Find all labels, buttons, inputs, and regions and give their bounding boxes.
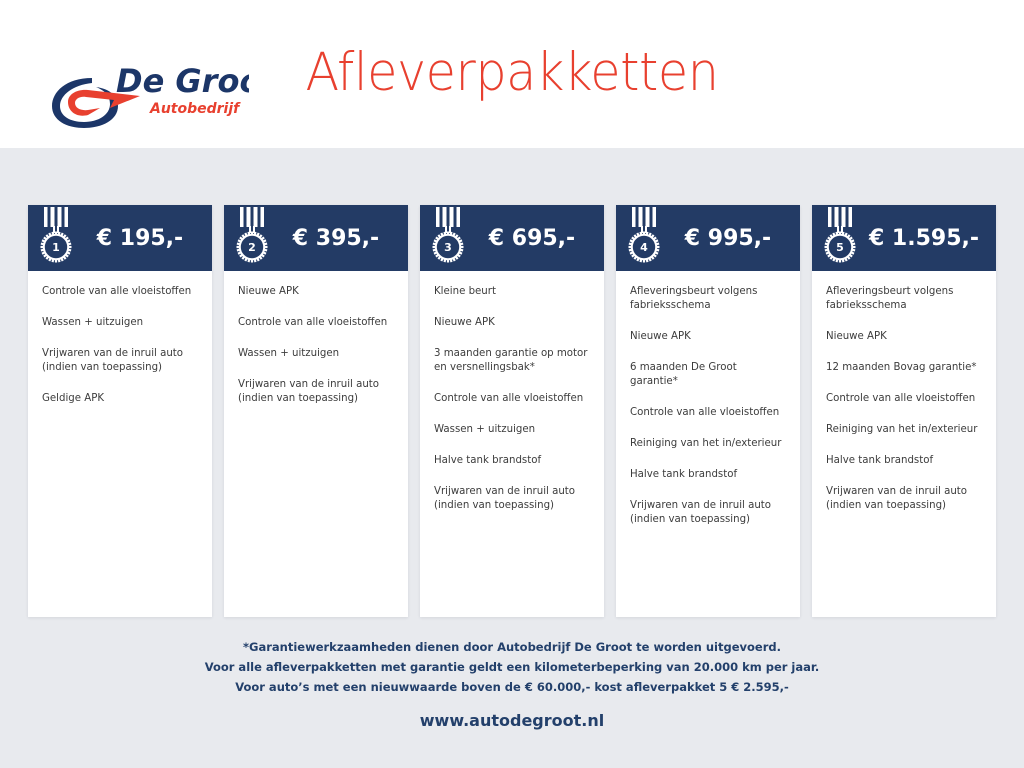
package-price: € 395,-: [272, 226, 404, 251]
package-feature: Vrijwaren van de inruil auto (indien van…: [238, 378, 394, 406]
website-url[interactable]: www.autodegroot.nl: [0, 711, 1024, 730]
package-feature: Halve tank brandstof: [630, 468, 786, 482]
package-price: € 1.595,-: [860, 226, 992, 251]
package-feature: Reiniging van het in/exterieur: [630, 437, 786, 451]
package-feature: Halve tank brandstof: [434, 454, 590, 468]
footer-note-line: Voor alle afleverpakketten met garantie …: [0, 657, 1024, 677]
package-header-1: 1€ 195,-: [28, 205, 212, 271]
package-feature: Afleveringsbeurt volgens fabrieksschema: [826, 285, 982, 313]
medal-icon: 4: [624, 205, 664, 267]
package-card-4[interactable]: 4€ 995,-Afleveringsbeurt volgens fabriek…: [616, 205, 800, 617]
medal-icon: 2: [232, 205, 272, 267]
package-feature: Geldige APK: [42, 392, 198, 406]
footer-note-line: *Garantiewerkzaamheden dienen door Autob…: [0, 637, 1024, 657]
package-feature: Vrijwaren van de inruil auto (indien van…: [630, 499, 786, 527]
package-header-3: 3€ 695,-: [420, 205, 604, 271]
package-feature-list: Afleveringsbeurt volgens fabrieksschemaN…: [812, 271, 996, 617]
medal-icon: 3: [428, 205, 468, 267]
package-feature-list: Kleine beurtNieuwe APK3 maanden garantie…: [420, 271, 604, 617]
package-feature: Vrijwaren van de inruil auto (indien van…: [42, 347, 198, 375]
package-header-4: 4€ 995,-: [616, 205, 800, 271]
package-feature: Wassen + uitzuigen: [238, 347, 394, 361]
package-feature: Controle van alle vloeistoffen: [826, 392, 982, 406]
package-header-5: 5€ 1.595,-: [812, 205, 996, 271]
package-card-2[interactable]: 2€ 395,-Nieuwe APKControle van alle vloe…: [224, 205, 408, 617]
package-feature-list: Afleveringsbeurt volgens fabrieksschemaN…: [616, 271, 800, 617]
package-feature: Controle van alle vloeistoffen: [434, 392, 590, 406]
medal-icon: 1: [36, 205, 76, 267]
package-cards: 1€ 195,-Controle van alle vloeistoffenWa…: [28, 205, 996, 617]
package-feature: 3 maanden garantie op motor en versnelli…: [434, 347, 590, 375]
package-feature: Wassen + uitzuigen: [42, 316, 198, 330]
package-feature: 12 maanden Bovag garantie*: [826, 361, 982, 375]
package-feature: Controle van alle vloeistoffen: [630, 406, 786, 420]
svg-text:3: 3: [444, 241, 452, 254]
svg-text:2: 2: [248, 241, 256, 254]
svg-text:4: 4: [640, 241, 648, 254]
afleverpakketten-page: De Groot Autobedrijf Afleverpakketten 1€…: [0, 0, 1024, 768]
medal-icon: 5: [820, 205, 860, 267]
package-feature: Reiniging van het in/exterieur: [826, 423, 982, 437]
package-feature: Nieuwe APK: [434, 316, 590, 330]
package-card-1[interactable]: 1€ 195,-Controle van alle vloeistoffenWa…: [28, 205, 212, 617]
footer-notes: *Garantiewerkzaamheden dienen door Autob…: [0, 637, 1024, 697]
svg-text:5: 5: [836, 241, 844, 254]
page-footer: *Garantiewerkzaamheden dienen door Autob…: [0, 637, 1024, 730]
package-feature: Nieuwe APK: [238, 285, 394, 299]
package-feature: Halve tank brandstof: [826, 454, 982, 468]
package-feature: Controle van alle vloeistoffen: [42, 285, 198, 299]
package-feature: Kleine beurt: [434, 285, 590, 299]
package-feature: Nieuwe APK: [630, 330, 786, 344]
package-feature-list: Nieuwe APKControle van alle vloeistoffen…: [224, 271, 408, 617]
package-feature: Controle van alle vloeistoffen: [238, 316, 394, 330]
package-feature: Wassen + uitzuigen: [434, 423, 590, 437]
footer-note-line: Voor auto’s met een nieuwwaarde boven de…: [0, 677, 1024, 697]
package-feature: Vrijwaren van de inruil auto (indien van…: [826, 485, 982, 513]
package-feature: Vrijwaren van de inruil auto (indien van…: [434, 485, 590, 513]
package-feature: Nieuwe APK: [826, 330, 982, 344]
package-price: € 695,-: [468, 226, 600, 251]
package-price: € 195,-: [76, 226, 208, 251]
package-card-5[interactable]: 5€ 1.595,-Afleveringsbeurt volgens fabri…: [812, 205, 996, 617]
package-card-3[interactable]: 3€ 695,-Kleine beurtNieuwe APK3 maanden …: [420, 205, 604, 617]
package-feature-list: Controle van alle vloeistoffenWassen + u…: [28, 271, 212, 617]
package-header-2: 2€ 395,-: [224, 205, 408, 271]
package-feature: 6 maanden De Groot garantie*: [630, 361, 786, 389]
package-feature: Afleveringsbeurt volgens fabrieksschema: [630, 285, 786, 313]
package-price: € 995,-: [664, 226, 796, 251]
svg-text:1: 1: [52, 241, 60, 254]
page-title: Afleverpakketten: [36, 42, 988, 104]
page-header: De Groot Autobedrijf Afleverpakketten: [0, 0, 1024, 148]
